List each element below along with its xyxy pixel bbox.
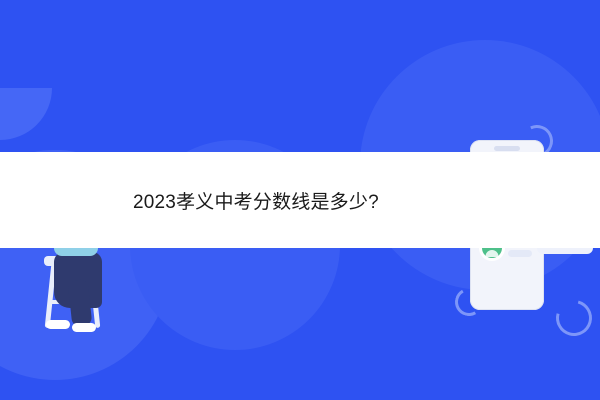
avatar-body [486, 250, 499, 257]
shoe [46, 320, 70, 329]
image-canvas: 2023孝义中考分数线是多少? [0, 0, 600, 400]
phone-speaker [494, 146, 520, 151]
shoe [72, 323, 96, 332]
decorative-ring-corner [549, 293, 598, 342]
title-text: 2023孝义中考分数线是多少? [133, 152, 533, 248]
corner-shape [0, 88, 52, 140]
chat-bubble [508, 250, 532, 257]
